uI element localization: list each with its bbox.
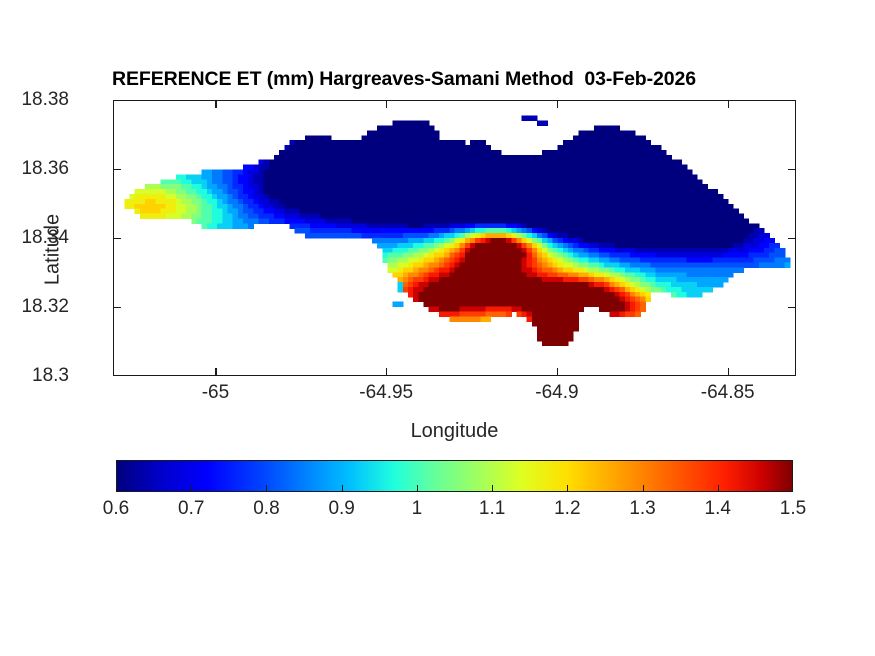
colorbar-tick-mark	[643, 485, 644, 492]
colorbar	[116, 460, 793, 492]
colorbar-tick-label: 1.1	[479, 498, 505, 520]
x-tick-mark-top	[386, 100, 387, 108]
colorbar-tick-label: 0.8	[253, 498, 279, 520]
colorbar-tick-label: 1.4	[705, 498, 731, 520]
colorbar-tick-mark	[191, 485, 192, 492]
colorbar-tick-mark	[492, 485, 493, 492]
x-tick-mark-bottom	[728, 368, 729, 376]
y-tick-mark	[113, 238, 121, 239]
y-tick-mark	[113, 307, 121, 308]
y-tick-mark	[113, 169, 121, 170]
x-tick-label: -65	[202, 382, 229, 404]
y-tick-mark-right	[788, 238, 796, 239]
matlab-figure-canvas: REFERENCE ET (mm) Hargreaves-Samani Meth…	[0, 0, 875, 656]
colorbar-tick-label: 0.6	[103, 498, 129, 520]
y-tick-label: 18.34	[21, 227, 69, 249]
x-tick-label: -64.9	[535, 382, 578, 404]
colorbar-tick-mark	[567, 485, 568, 492]
colorbar-tick-mark	[718, 485, 719, 492]
colorbar-tick-mark	[342, 485, 343, 492]
x-axis-label: Longitude	[113, 420, 796, 443]
colorbar-tick-label: 1.3	[629, 498, 655, 520]
x-tick-label: -64.85	[701, 382, 755, 404]
y-tick-label: 18.36	[21, 158, 69, 180]
x-tick-mark-top	[215, 100, 216, 108]
x-tick-mark-bottom	[386, 368, 387, 376]
colorbar-tick-label: 1.5	[780, 498, 806, 520]
et-contour-map	[114, 101, 795, 375]
colorbar-tick-label: 0.7	[178, 498, 204, 520]
colorbar-tick-mark	[266, 485, 267, 492]
colorbar-tick-mark	[417, 485, 418, 492]
x-tick-mark-bottom	[557, 368, 558, 376]
y-tick-label: 18.38	[21, 89, 69, 111]
colorbar-gradient	[117, 461, 792, 491]
colorbar-tick-label: 1	[412, 498, 423, 520]
x-tick-mark-bottom	[215, 368, 216, 376]
y-tick-label: 18.32	[21, 296, 69, 318]
y-tick-mark-right	[788, 169, 796, 170]
map-axes	[113, 100, 796, 376]
x-tick-mark-top	[728, 100, 729, 108]
y-tick-label: 18.3	[32, 365, 69, 387]
x-tick-mark-top	[557, 100, 558, 108]
page-title: REFERENCE ET (mm) Hargreaves-Samani Meth…	[112, 66, 812, 92]
colorbar-tick-label: 0.9	[328, 498, 354, 520]
x-tick-label: -64.95	[359, 382, 413, 404]
colorbar-tick-label: 1.2	[554, 498, 580, 520]
y-tick-mark-right	[788, 307, 796, 308]
